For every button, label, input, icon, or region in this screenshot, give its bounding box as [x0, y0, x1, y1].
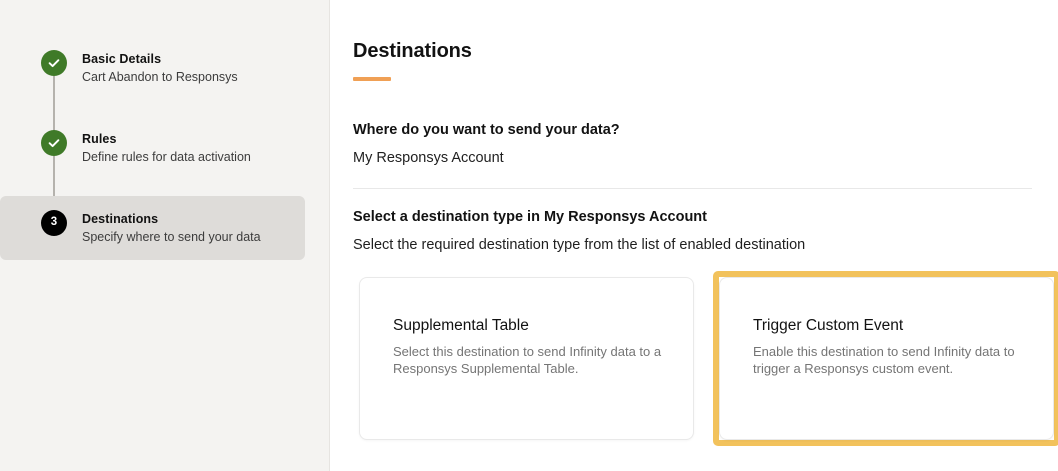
destination-card-supplemental-table-wrapper[interactable]: Supplemental Table Select this destinati… — [353, 271, 700, 446]
destination-card-title: Supplemental Table — [393, 316, 667, 336]
destination-question-label: Where do you want to send your data? — [353, 121, 1032, 140]
destination-account-section: Where do you want to send your data? My … — [353, 121, 1032, 168]
sidebar-step-hitarea[interactable]: Basic Details Cart Abandon to Responsys — [0, 36, 305, 100]
destination-card-description: Select this destination to send Infinity… — [393, 343, 667, 377]
step-subtitle: Cart Abandon to Responsys — [82, 69, 238, 86]
destination-type-heading: Select a destination type in My Responsy… — [353, 208, 1032, 227]
step-status-complete-badge — [41, 130, 67, 156]
step-title: Basic Details — [82, 51, 238, 67]
step-number-badge: 3 — [41, 210, 67, 236]
title-accent-underline — [353, 77, 391, 81]
destination-card-title: Trigger Custom Event — [753, 316, 1027, 336]
step-subtitle: Define rules for data activation — [82, 149, 251, 166]
destinations-wizard-page: Basic Details Cart Abandon to Responsys — [0, 0, 1058, 471]
sidebar-step-hitarea[interactable]: 3 Destinations Specify where to send you… — [0, 196, 305, 260]
step-marker-column: 3 — [38, 210, 70, 236]
destination-card-supplemental-table[interactable]: Supplemental Table Select this destinati… — [359, 277, 694, 440]
step-number-label: 3 — [51, 217, 57, 229]
step-status-complete-badge — [41, 50, 67, 76]
step-marker-column — [38, 50, 70, 76]
wizard-stepper: Basic Details Cart Abandon to Responsys — [0, 0, 329, 276]
step-subtitle: Specify where to send your data — [82, 229, 261, 246]
destination-type-section: Select a destination type in My Responsy… — [353, 208, 1032, 446]
step-title: Rules — [82, 131, 251, 147]
page-title: Destinations — [353, 39, 1032, 63]
step-text-block: Rules Define rules for data activation — [70, 130, 251, 166]
sidebar-step-basic-details[interactable]: Basic Details Cart Abandon to Responsys — [0, 36, 329, 116]
check-icon — [47, 56, 61, 70]
step-marker-column — [38, 130, 70, 156]
main-content: Destinations Where do you want to send y… — [330, 0, 1058, 471]
wizard-sidebar: Basic Details Cart Abandon to Responsys — [0, 0, 330, 471]
sidebar-step-destinations[interactable]: 3 Destinations Specify where to send you… — [0, 196, 329, 276]
sidebar-step-hitarea[interactable]: Rules Define rules for data activation — [0, 116, 305, 180]
sidebar-step-rules[interactable]: Rules Define rules for data activation — [0, 116, 329, 196]
destination-type-instructions: Select the required destination type fro… — [353, 236, 1032, 255]
destination-account-value: My Responsys Account — [353, 149, 1032, 168]
step-title: Destinations — [82, 211, 261, 227]
step-text-block: Destinations Specify where to send your … — [70, 210, 261, 246]
check-icon — [47, 136, 61, 150]
destination-card-trigger-custom-event-wrapper[interactable]: Trigger Custom Event Enable this destina… — [713, 271, 1058, 446]
section-divider — [353, 188, 1032, 189]
destination-type-card-list: Supplemental Table Select this destinati… — [353, 271, 1032, 446]
destination-card-trigger-custom-event[interactable]: Trigger Custom Event Enable this destina… — [719, 277, 1054, 440]
step-text-block: Basic Details Cart Abandon to Responsys — [70, 50, 238, 86]
destination-card-description: Enable this destination to send Infinity… — [753, 343, 1027, 377]
